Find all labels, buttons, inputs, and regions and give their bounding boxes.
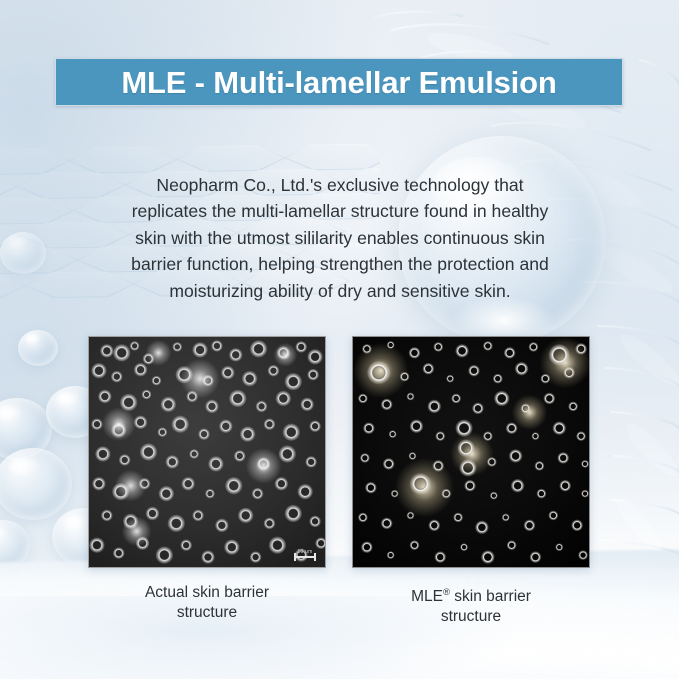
actual-skin-barrier-image: 10 μm — [88, 336, 326, 568]
description-line-4: barrier function, helping strengthen the… — [88, 251, 592, 277]
caption-mle-prefix: MLE — [411, 588, 443, 605]
mle-skin-barrier-image — [352, 336, 590, 568]
water-droplet — [0, 448, 72, 520]
description-line-3: skin with the utmost sililarity enables … — [88, 225, 592, 251]
mle-infographic-poster: MLE - Multi-lamellar Emulsion Neopharm C… — [0, 0, 679, 679]
water-droplet — [18, 330, 58, 366]
caption-left-line-2: structure — [88, 603, 326, 623]
water-droplet — [0, 232, 46, 274]
caption-right-line-1: MLE® skin barrier — [352, 583, 590, 607]
title-banner: MLE - Multi-lamellar Emulsion — [55, 58, 623, 106]
caption-actual-structure: Actual skin barrier structure — [88, 583, 326, 623]
description-line-5: moisturizing ability of dry and sensitiv… — [88, 278, 592, 304]
caption-right-line-2: structure — [352, 607, 590, 627]
description-line-2: replicates the multi-lamellar structure … — [88, 198, 592, 224]
caption-mle-suffix: skin barrier — [450, 588, 531, 605]
page-title: MLE - Multi-lamellar Emulsion — [121, 67, 556, 98]
registered-trademark-icon: ® — [443, 587, 450, 598]
description-paragraph: Neopharm Co., Ltd.'s exclusive technolog… — [88, 172, 592, 304]
caption-mle-structure: MLE® skin barrier structure — [352, 583, 590, 627]
description-line-1: Neopharm Co., Ltd.'s exclusive technolog… — [88, 172, 592, 198]
caption-left-line-1: Actual skin barrier — [88, 583, 326, 603]
